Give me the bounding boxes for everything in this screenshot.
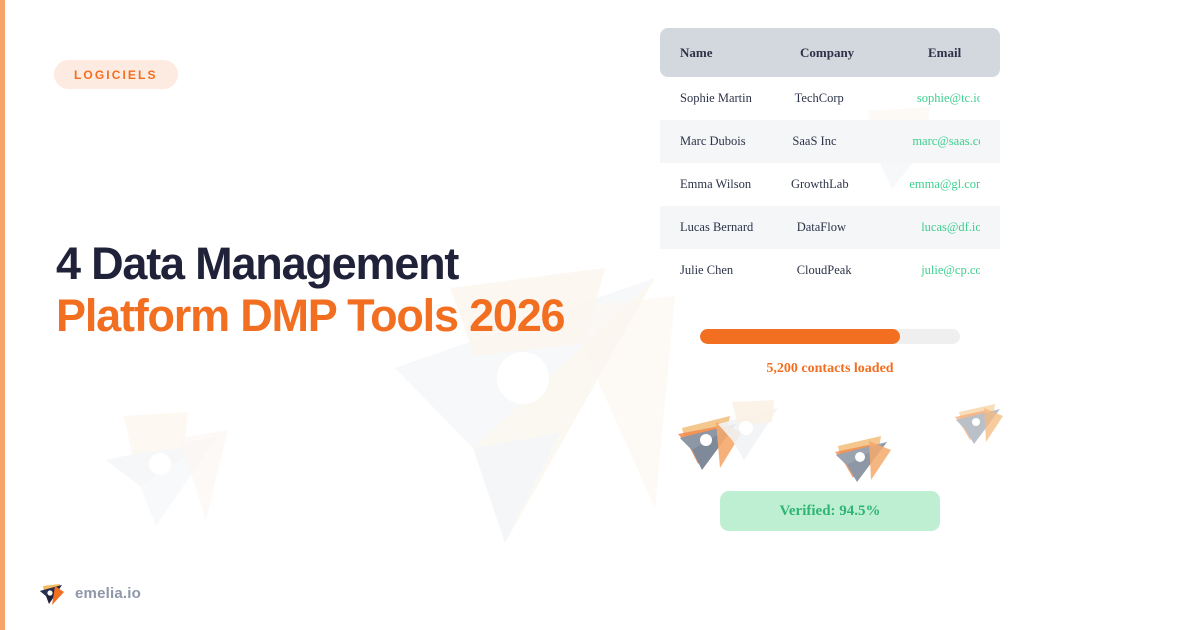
progress-bar	[700, 329, 960, 344]
brand-name: emelia.io	[75, 585, 141, 602]
column-header-email: Email	[928, 45, 961, 61]
cell-name: Lucas Bernard	[680, 220, 797, 235]
column-header-name: Name	[680, 45, 800, 61]
headline-line-2: Platform DMP Tools 2026	[56, 290, 696, 342]
verified-badge: Verified: 94.5%	[720, 491, 940, 531]
cell-email: emma@gl.com	[909, 177, 980, 192]
paper-plane-decoration-1	[676, 412, 746, 474]
column-header-company: Company	[800, 45, 928, 61]
cell-name: Emma Wilson	[680, 177, 791, 192]
paper-plane-decoration-2	[712, 398, 788, 466]
brand-logo: emelia.io	[38, 580, 141, 607]
table-row[interactable]: Marc Dubois SaaS Inc marc@saas.co	[660, 120, 1000, 163]
table-row[interactable]: Lucas Bernard DataFlow lucas@df.io	[660, 206, 1000, 249]
paper-plane-decoration-3	[833, 432, 895, 486]
cell-company: SaaS Inc	[792, 134, 912, 149]
cell-company: CloudPeak	[797, 263, 921, 278]
cell-company: DataFlow	[797, 220, 921, 235]
contacts-table: Name Company Email Sophie Martin TechCor…	[660, 28, 1000, 292]
table-row[interactable]: Sophie Martin TechCorp sophie@tc.io	[660, 77, 1000, 120]
cell-name: Marc Dubois	[680, 134, 792, 149]
cell-email: marc@saas.co	[912, 134, 980, 149]
cell-email: sophie@tc.io	[917, 91, 980, 106]
progress-fill	[700, 329, 900, 344]
paper-plane-watermark-left	[88, 408, 248, 536]
paper-plane-icon	[38, 580, 65, 607]
cell-email: lucas@df.io	[921, 220, 980, 235]
contacts-loaded-status: 5,200 contacts loaded	[660, 361, 1000, 377]
cell-name: Sophie Martin	[680, 91, 795, 106]
left-accent-bar	[0, 0, 5, 630]
headline-line-1: 4 Data Management	[56, 238, 696, 290]
cell-name: Julie Chen	[680, 263, 797, 278]
progress-track	[700, 329, 960, 344]
category-badge: LOGICIELS	[54, 60, 178, 89]
cell-company: GrowthLab	[791, 177, 909, 192]
cell-email: julie@cp.co	[921, 263, 980, 278]
cell-company: TechCorp	[795, 91, 917, 106]
table-row[interactable]: Julie Chen CloudPeak julie@cp.co	[660, 249, 1000, 292]
table-row[interactable]: Emma Wilson GrowthLab emma@gl.com	[660, 163, 1000, 206]
table-header-row: Name Company Email	[660, 28, 1000, 77]
paper-plane-decoration-4	[953, 400, 1007, 448]
page-title: 4 Data Management Platform DMP Tools 202…	[56, 238, 696, 342]
